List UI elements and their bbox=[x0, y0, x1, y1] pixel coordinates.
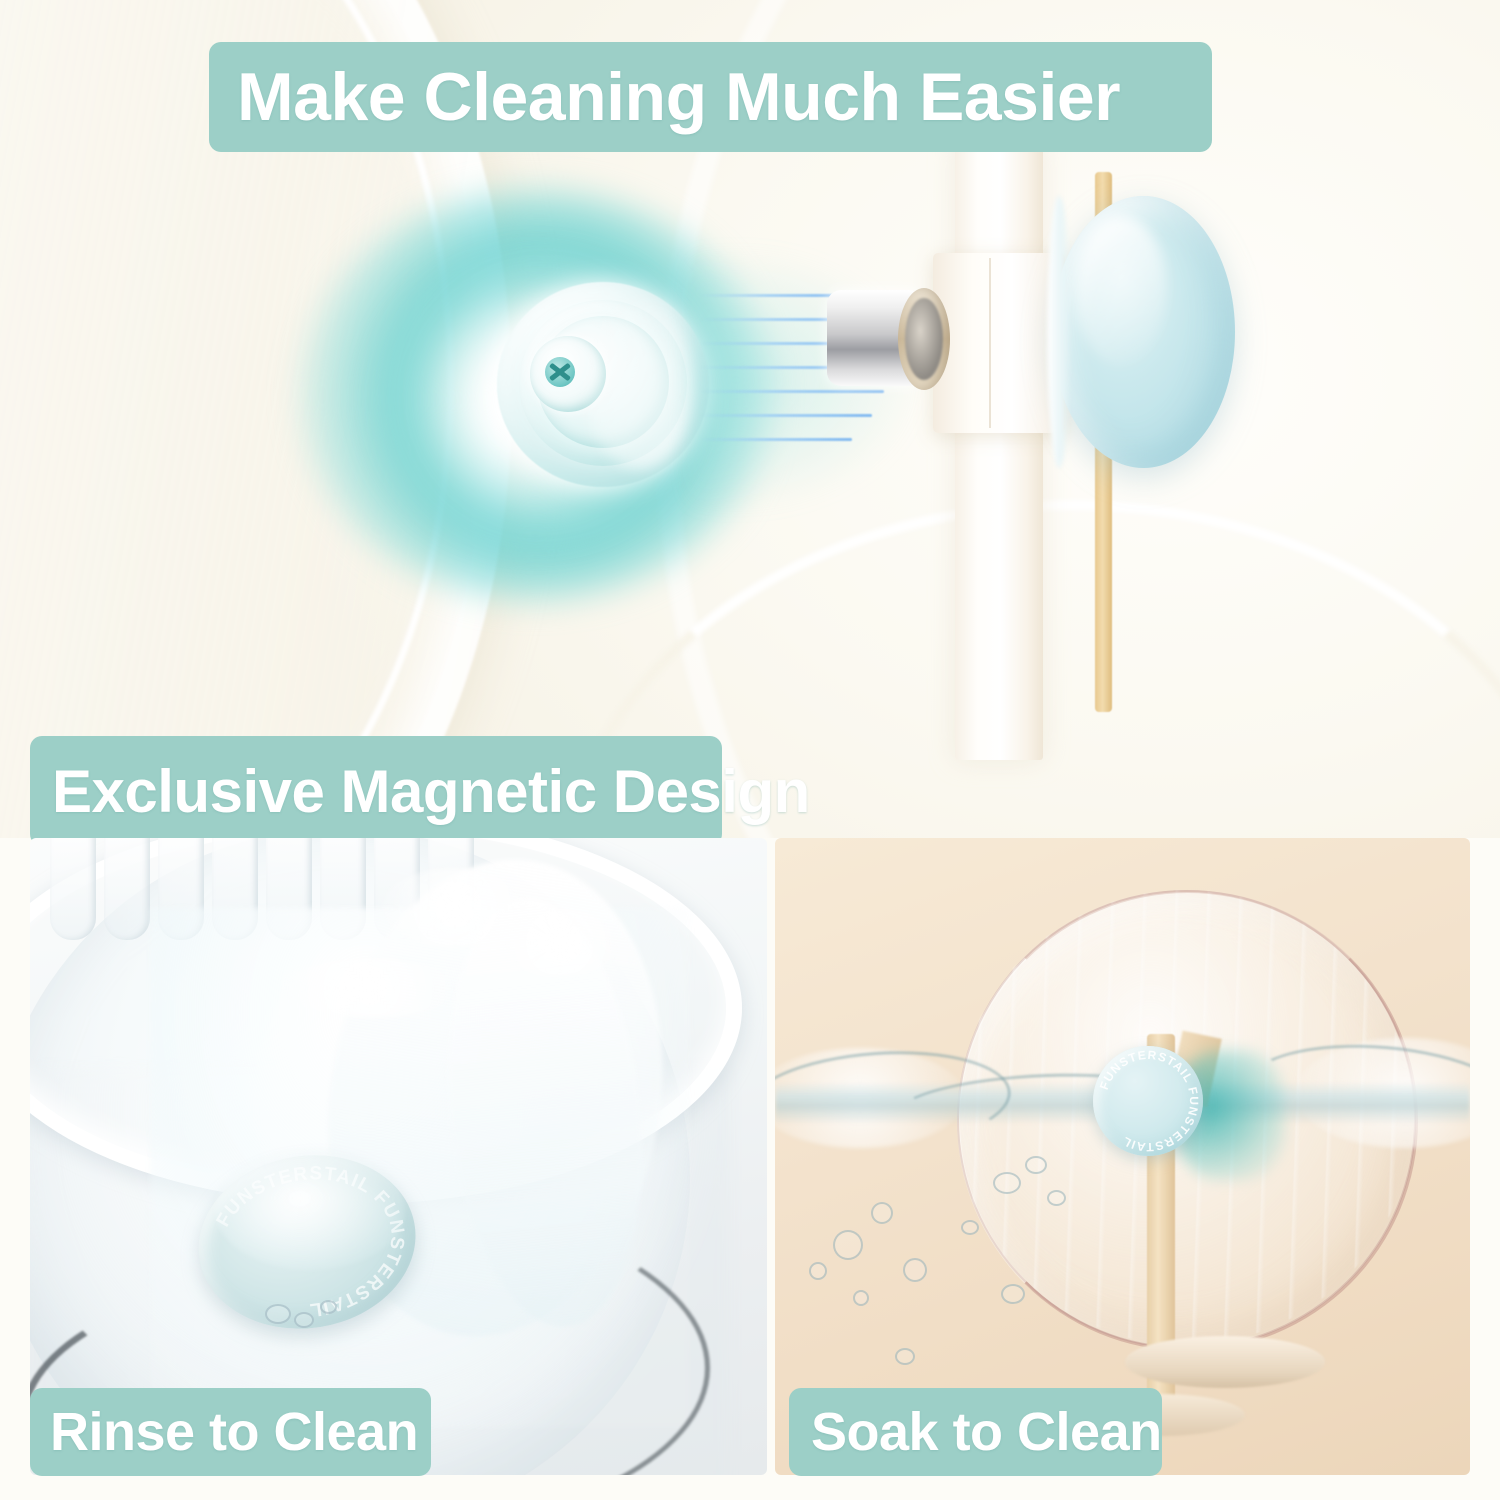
svg-text:FUNSTERSTAIL FUNSTERSTAIL: FUNSTERSTAIL FUNSTERSTAIL bbox=[1097, 1048, 1201, 1154]
field-line bbox=[700, 294, 850, 297]
air-bubble bbox=[903, 1258, 927, 1282]
air-bubble bbox=[895, 1348, 915, 1365]
water-over-puck bbox=[215, 1150, 405, 1270]
water-splash bbox=[280, 958, 460, 1018]
panel-rinse-to-clean: FUNSTERSTAIL FUNSTERSTAIL bbox=[30, 838, 767, 1475]
field-line bbox=[700, 438, 852, 441]
connector-inner-magnet bbox=[905, 298, 943, 380]
housing-seam bbox=[989, 258, 991, 428]
badge-soak-to-clean: Soak to Clean bbox=[789, 1388, 1162, 1476]
panel-soak-to-clean: FUNSTERSTAIL FUNSTERSTAIL bbox=[775, 838, 1470, 1475]
air-bubble bbox=[871, 1202, 893, 1224]
air-bubble bbox=[853, 1290, 869, 1306]
stand-foot bbox=[1125, 1336, 1325, 1388]
field-line bbox=[700, 390, 884, 393]
field-line bbox=[700, 414, 872, 417]
water-bubble bbox=[294, 1312, 314, 1328]
water-bubble bbox=[320, 1300, 337, 1314]
socket-highlight bbox=[585, 300, 695, 470]
badge-make-cleaning-much-easier: Make Cleaning Much Easier bbox=[209, 42, 1212, 152]
bowl-flute bbox=[104, 838, 150, 940]
puck-brand-text: FUNSTERSTAIL FUNSTERSTAIL bbox=[1097, 1048, 1201, 1154]
air-bubble bbox=[961, 1220, 979, 1235]
disc-highlight bbox=[1075, 216, 1167, 366]
magnet-puck: FUNSTERSTAIL FUNSTERSTAIL bbox=[1093, 1046, 1203, 1156]
badge-exclusive-magnetic-design: Exclusive Magnetic Design bbox=[30, 736, 722, 846]
air-bubble bbox=[809, 1262, 827, 1280]
water-bubble bbox=[265, 1304, 291, 1324]
bowl-flute bbox=[50, 838, 96, 940]
air-bubble bbox=[1025, 1156, 1047, 1174]
air-bubble bbox=[1001, 1284, 1025, 1304]
air-bubble bbox=[993, 1172, 1021, 1194]
air-bubble bbox=[1047, 1190, 1066, 1206]
badge-rinse-to-clean: Rinse to Clean bbox=[30, 1388, 431, 1476]
stand-housing-block bbox=[933, 253, 1065, 433]
white-stand-post bbox=[955, 140, 1043, 760]
product-infographic: Make Cleaning Much Easier Exclusive Magn… bbox=[0, 0, 1500, 1500]
screw-head-icon bbox=[545, 357, 575, 387]
disc-edge-highlight bbox=[1047, 196, 1071, 468]
air-bubble bbox=[833, 1230, 863, 1260]
